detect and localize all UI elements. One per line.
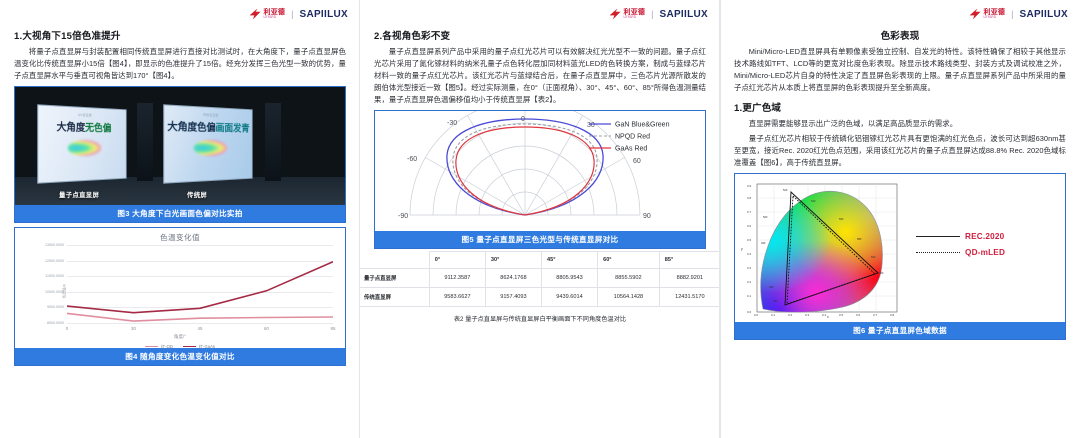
svg-text:0.7: 0.7 <box>747 210 752 214</box>
svg-text:580: 580 <box>857 237 862 241</box>
table-column-header <box>360 251 429 268</box>
table-cell: 12431.5170 <box>659 287 720 306</box>
brand-cn-sub-2: LEYARD <box>624 16 646 19</box>
figure-3-image: QD直显屏 大角度无色偏 传统直显屏 大角度色偏画面发青 量子点直显屏 <box>15 87 345 205</box>
polar-tick--60: -60 <box>407 156 417 163</box>
photo-label-traditional: 传统屏 <box>187 190 207 199</box>
table-cell: 9583.6627 <box>429 287 485 306</box>
polar-tick-60: 60 <box>633 158 641 165</box>
figure-5-card: -90 -60 -30 0 30 60 90 GaN Blue&Green NP… <box>374 110 706 249</box>
svg-text:0.5: 0.5 <box>839 313 844 317</box>
polar-tick-90: 90 <box>643 213 651 220</box>
svg-text:0.1: 0.1 <box>771 313 776 317</box>
polar-tick--30: -30 <box>447 120 457 127</box>
brand-divider-2: | <box>651 10 653 19</box>
brand-divider: | <box>291 10 293 19</box>
brand-cn-name: 利亚德 LEYARD <box>264 9 286 19</box>
screen-traditional-color-blob <box>194 139 227 155</box>
cie-x-axis-label: x <box>827 315 829 318</box>
table-cell: 9112.3587 <box>429 268 485 287</box>
polar-tick--90: -90 <box>398 213 408 220</box>
svg-text:0.6: 0.6 <box>747 224 752 228</box>
chart-legend: 红-QD红-GaAs <box>21 344 339 350</box>
table-column-header: 85° <box>659 251 720 268</box>
chart-plot-area: 色温值/K 8500.00009500.000010500.000011500.… <box>67 245 333 323</box>
svg-text:0.4: 0.4 <box>747 252 752 256</box>
table-row-header: 0°30°45°60°85° <box>360 251 720 268</box>
panel-left: 利亚德 LEYARD | SAPIILUX 1.大视角下15倍色准提升 将量子点… <box>0 0 360 438</box>
table-cell: 量子点直显屏 <box>360 268 429 287</box>
chart-legend-swatch <box>145 346 158 347</box>
brand-logo-mark-3: 利亚德 LEYARD <box>970 9 1006 20</box>
article-page: 利亚德 LEYARD | SAPIILUX 1.大视角下15倍色准提升 将量子点… <box>0 0 1080 438</box>
screen-qd: QD直显屏 大角度无色偏 <box>37 104 126 183</box>
brand-logo-mark: 利亚德 LEYARD <box>250 9 286 20</box>
brand-divider-3: | <box>1011 10 1013 19</box>
table-2: 0°30°45°60°85° 量子点直显屏9112.35878624.17688… <box>360 251 720 307</box>
chart-line-红-QD <box>67 313 333 321</box>
brand-header-2: 利亚德 LEYARD | SAPIILUX <box>360 0 720 22</box>
table-cell: 9439.6014 <box>541 287 597 306</box>
figure-3-caption: 图3 大角度下白光画面色偏对比实拍 <box>15 205 345 222</box>
cie-diagram-svg: 520540560 580600700 500490480 460 0.00.1… <box>735 178 910 318</box>
svg-text:0.0: 0.0 <box>747 310 752 314</box>
svg-text:500: 500 <box>763 215 768 219</box>
chart-x-tick: 45 <box>198 326 203 331</box>
chart-x-tick: 0 <box>66 326 68 331</box>
chart-legend-label: 红-GaAs <box>199 344 215 350</box>
svg-text:540: 540 <box>811 199 816 203</box>
figure-6-chart: 520540560 580600700 500490480 460 0.00.1… <box>735 174 1065 322</box>
brand-en-name-2: SAPIILUX <box>659 9 708 20</box>
svg-text:0.8: 0.8 <box>747 196 752 200</box>
chart-x-axis-label: 角度/° <box>21 334 339 340</box>
table-cell: 8805.9543 <box>541 268 597 287</box>
photo-label-qd: 量子点直显屏 <box>59 190 99 199</box>
cie-legend-item: REC.2020 <box>916 232 1065 241</box>
brand-header-3: 利亚德 LEYARD | SAPIILUX <box>720 0 1080 22</box>
svg-text:460: 460 <box>773 299 778 303</box>
polar-legend: GaN Blue&Green NPQD Red GaAs Red <box>589 121 670 152</box>
chart-legend-item: 红-GaAs <box>183 344 215 350</box>
table-column-header: 45° <box>541 251 597 268</box>
polar-legend-npqd: NPQD Red <box>615 133 650 140</box>
panel-middle: 利亚德 LEYARD | SAPIILUX 2.各视角色彩不变 量子点直显屏系列… <box>360 0 720 438</box>
svg-text:0.5: 0.5 <box>747 238 752 242</box>
chart-legend-swatch <box>183 346 196 347</box>
photo-pillar-a <box>137 103 153 181</box>
table-cell: 9157.4093 <box>485 287 541 306</box>
chart-y-tick: 13500.0000 <box>45 243 64 247</box>
svg-text:0.8: 0.8 <box>890 313 895 317</box>
screen-qd-top-label: QD直显屏 <box>38 105 126 118</box>
swoosh-icon <box>970 9 981 20</box>
table-cell: 8855.5902 <box>598 268 660 287</box>
svg-text:0.9: 0.9 <box>747 184 752 188</box>
figure-5-chart: -90 -60 -30 0 30 60 90 GaN Blue&Green NP… <box>375 111 705 231</box>
panel3-paragraph-3: 量子点红光芯片相较于传统磷化铝铟镓红光芯片具有更饱满的红光色点，波长可达到超63… <box>734 133 1066 169</box>
figure-6-caption: 图6 量子点直显屏色域数据 <box>735 322 1065 339</box>
brand-en-name: SAPIILUX <box>299 9 348 20</box>
svg-text:0.6: 0.6 <box>856 313 861 317</box>
panel-right: 利亚德 LEYARD | SAPIILUX 色彩表现 Mini/Micro-LE… <box>720 0 1080 438</box>
cie-legend-label: REC.2020 <box>965 232 1004 241</box>
swoosh-icon <box>250 9 261 20</box>
screen-traditional-headline: 大角度色偏画面发青 <box>164 123 252 136</box>
panel-divider-3 <box>720 0 721 438</box>
polar-tick-30: 30 <box>587 122 595 129</box>
table-cell: 10564.1428 <box>598 287 660 306</box>
chart-legend-label: 红-QD <box>161 344 173 350</box>
table-cell: 8882.9201 <box>659 268 720 287</box>
table-row: 量子点直显屏9112.35878624.17688805.95438855.59… <box>360 268 720 287</box>
panel3-heading: 色彩表现 <box>720 28 1080 42</box>
table-2-body: 量子点直显屏9112.35878624.17688805.95438855.59… <box>360 268 720 306</box>
svg-text:0.3: 0.3 <box>747 266 752 270</box>
svg-text:0.1: 0.1 <box>747 294 752 298</box>
polar-tick-0: 0 <box>521 116 525 123</box>
svg-text:0.2: 0.2 <box>747 280 752 284</box>
table-column-header: 0° <box>429 251 485 268</box>
panel3-paragraph-2: 直显屏需要能够显示出广泛的色域，以满足高品质显示的需求。 <box>734 118 1066 130</box>
figure-4-caption: 图4 随角度变化色温变化值对比 <box>15 348 345 365</box>
panel2-paragraph: 量子点直显屏系列产品中采用的量子点红光芯片可以有效解决红光光型不一致的问题。量子… <box>374 46 706 106</box>
cie-y-axis-label: y <box>741 247 743 251</box>
chart-series-svg <box>67 245 333 323</box>
svg-text:700: 700 <box>879 271 884 275</box>
cie-legend: REC.2020QD-mLED <box>910 232 1065 264</box>
svg-text:0.2: 0.2 <box>788 313 793 317</box>
figure-4-card: 色温变化值 色温值/K 8500.00009500.000010500.0000… <box>14 227 346 366</box>
chart-x-tick: 85 <box>331 326 336 331</box>
figure-4-chart: 色温变化值 色温值/K 8500.00009500.000010500.0000… <box>15 228 345 348</box>
page-title: 1.大视角下15倍色准提升 <box>14 28 346 42</box>
panel1-paragraph: 将量子点直显屏与封装配置相同传统直显屏进行直接对比测试时，在大角度下，量子点直显… <box>14 46 346 82</box>
table-row: 传统直显屏9583.66279157.40939439.601410564.14… <box>360 287 720 306</box>
figure-6-card: 520540560 580600700 500490480 460 0.00.1… <box>734 173 1066 340</box>
svg-text:600: 600 <box>871 255 876 259</box>
figure-3-card: QD直显屏 大角度无色偏 传统直显屏 大角度色偏画面发青 量子点直显屏 <box>14 86 346 223</box>
chart-y-tick: 8500.0000 <box>47 321 64 325</box>
table-cell: 传统直显屏 <box>360 287 429 306</box>
svg-text:490: 490 <box>761 241 766 245</box>
swoosh-icon <box>610 9 621 20</box>
figure-5-caption: 图5 量子点直显屏三色光型与传统直显屏对比 <box>375 231 705 248</box>
brand-cn-name-2: 利亚德 LEYARD <box>624 9 646 19</box>
brand-cn-name-3: 利亚德 LEYARD <box>984 9 1006 19</box>
table-column-header: 30° <box>485 251 541 268</box>
svg-text:520: 520 <box>783 188 788 192</box>
panel3-paragraph-1: Mini/Micro-LED直显屏具有单颗像素受独立控制、自发光的特性。该特性确… <box>734 46 1066 94</box>
chart-x-tick: 30 <box>131 326 136 331</box>
table-cell: 8624.1768 <box>485 268 541 287</box>
brand-cn-sub-3: LEYARD <box>984 16 1006 19</box>
chart-y-tick: 9500.0000 <box>47 305 64 309</box>
svg-text:0.4: 0.4 <box>822 313 827 317</box>
chart-title: 色温变化值 <box>21 232 339 243</box>
photo-pillar-b <box>265 103 281 181</box>
screen-qd-color-blob <box>68 139 101 155</box>
screen-traditional-top-label: 传统直显屏 <box>164 105 252 118</box>
polar-legend-gan: GaN Blue&Green <box>615 121 670 128</box>
svg-text:480: 480 <box>769 285 774 289</box>
table-column-header: 60° <box>598 251 660 268</box>
screen-traditional: 传统直显屏 大角度色偏画面发青 <box>163 104 252 183</box>
svg-text:0.3: 0.3 <box>805 313 810 317</box>
photo-comparison: QD直显屏 大角度无色偏 传统直显屏 大角度色偏画面发青 量子点直显屏 <box>15 87 345 205</box>
brand-cn-sub: LEYARD <box>264 16 286 19</box>
brand-header: 利亚德 LEYARD | SAPIILUX <box>0 0 360 22</box>
cie-legend-item: QD-mLED <box>916 248 1065 257</box>
chart-gridline <box>67 323 333 324</box>
chart-y-tick: 12500.0000 <box>45 259 64 263</box>
cie-legend-label: QD-mLED <box>965 248 1005 257</box>
panel3-subheading: 1.更广色域 <box>734 100 1066 114</box>
chart-legend-item: 红-QD <box>145 344 173 350</box>
chart-y-tick: 11500.0000 <box>45 274 64 278</box>
table-2-head: 0°30°45°60°85° <box>360 251 720 268</box>
polar-chart-svg: -90 -60 -30 0 30 60 90 GaN Blue&Green NP… <box>375 111 705 231</box>
svg-text:0.7: 0.7 <box>873 313 878 317</box>
polar-legend-gaas: GaAs Red <box>615 145 647 152</box>
cie-legend-swatch <box>916 236 960 237</box>
table-2-caption: 表2 量子点直显屏与传统直显屏白平衡画面下不同角度色温对比 <box>360 314 720 323</box>
svg-text:560: 560 <box>839 217 844 221</box>
brand-logo-mark-2: 利亚德 LEYARD <box>610 9 646 20</box>
brand-en-name-3: SAPIILUX <box>1019 9 1068 20</box>
cie-legend-swatch <box>916 252 960 253</box>
table-2-wrapper: 0°30°45°60°85° 量子点直显屏9112.35878624.17688… <box>360 249 720 323</box>
screen-qd-headline: 大角度无色偏 <box>38 123 126 136</box>
chart-y-tick: 10500.0000 <box>45 290 64 294</box>
chart-line-红-GaAs <box>67 262 333 313</box>
panel2-heading: 2.各视角色彩不变 <box>374 28 706 42</box>
svg-text:0.0: 0.0 <box>754 313 759 317</box>
chart-x-tick: 60 <box>264 326 269 331</box>
